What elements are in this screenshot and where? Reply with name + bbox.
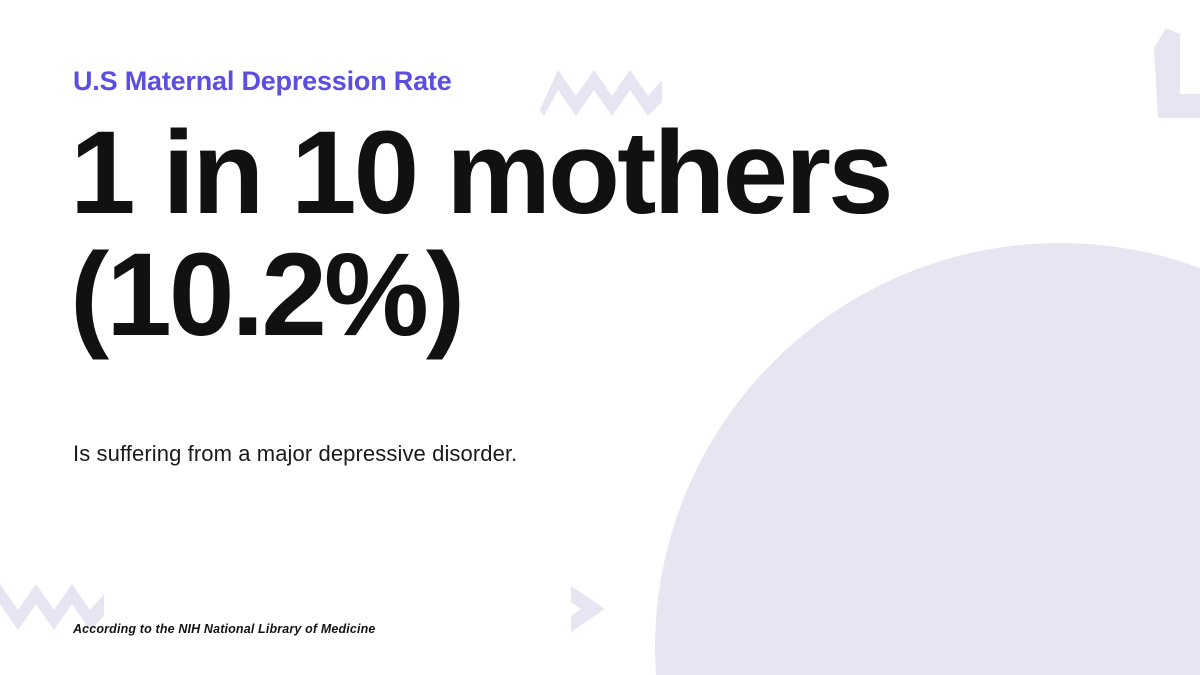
source-attribution: According to the NIH National Library of… (73, 622, 376, 636)
stat-headline: 1 in 10 mothers (10.2%) (70, 116, 1030, 353)
stat-subtitle: Is suffering from a major depressive dis… (73, 441, 517, 467)
page-title: U.S Maternal Depression Rate (73, 64, 452, 99)
content-layer: U.S Maternal Depression Rate 1 in 10 mot… (0, 0, 1200, 675)
slide-canvas: U.S Maternal Depression Rate 1 in 10 mot… (0, 0, 1200, 675)
stat-headline-line-2: (10.2%) (70, 238, 1030, 354)
stat-headline-line-1: 1 in 10 mothers (70, 116, 1030, 232)
